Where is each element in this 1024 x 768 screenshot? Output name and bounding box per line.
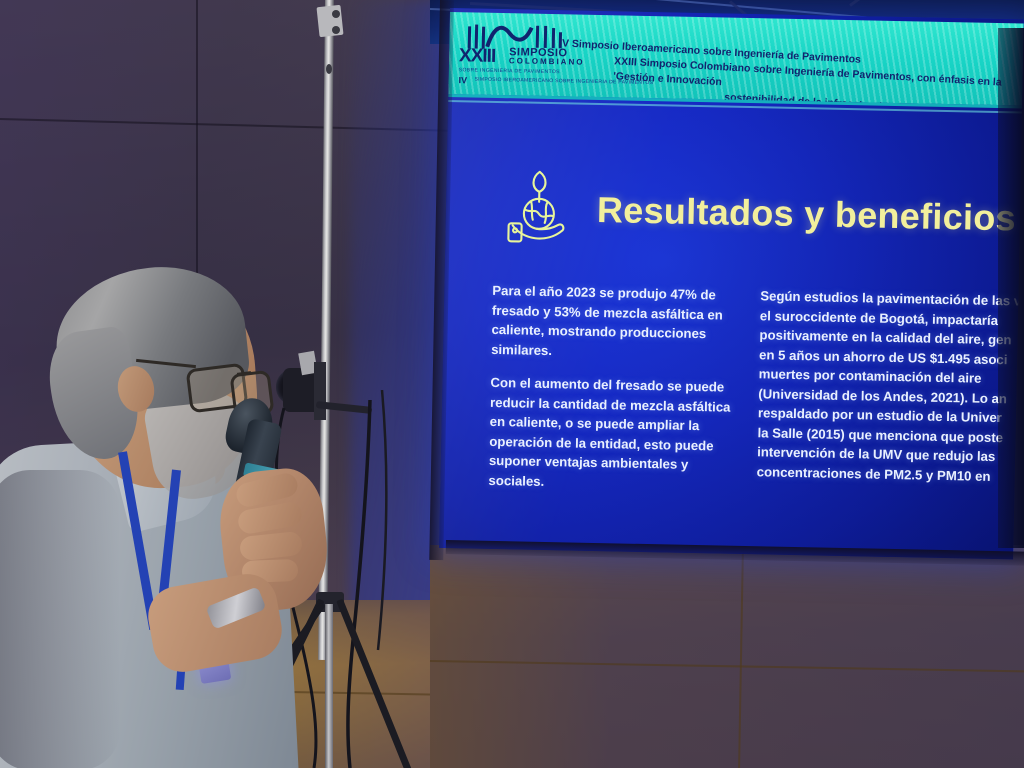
- slide-body-columns: Para el año 2023 se produjo 47% de fresa…: [488, 281, 1012, 514]
- slide-title-row: Resultados y beneficios: [500, 167, 1017, 259]
- screen-right-edge: [998, 28, 1024, 548]
- symposium-logo: XXIII SIMPOSIO COLOMBIANO SOBRE INGENIER…: [456, 18, 567, 92]
- slide-column-right: Según estudios la pavimentación de las v…: [756, 286, 1012, 514]
- slide-header-band: XXIII SIMPOSIO COLOMBIANO SOBRE INGENIER…: [448, 12, 1024, 106]
- projection-screen: XXIII SIMPOSIO COLOMBIANO SOBRE INGENIER…: [439, 8, 1024, 559]
- left-paragraph-2: Con el aumento del fresado se puede redu…: [488, 373, 736, 495]
- conference-presentation-scene: XXIII SIMPOSIO COLOMBIANO SOBRE INGENIER…: [0, 0, 1024, 768]
- slide-title: Resultados y beneficios: [597, 189, 1017, 239]
- logo-subtitle: SOBRE INGENIERIA DE PAVIMENTOS: [459, 68, 560, 75]
- truss-beam-diagonal-2: [849, 0, 948, 7]
- slide-header-text: IV Simposio Iberoamericano sobre Ingenie…: [556, 36, 1024, 105]
- shirt-shadow: [0, 470, 120, 768]
- left-paragraph-1: Para el año 2023 se produjo 47% de fresa…: [491, 281, 739, 364]
- wood-panel-lower-right: [430, 545, 1024, 768]
- logo-edition-number: XXIII: [459, 46, 496, 66]
- hand-holding-globe-leaf-icon: [500, 167, 576, 250]
- presenter: [0, 0, 460, 768]
- slide-column-left: Para el año 2023 se produjo 47% de fresa…: [488, 281, 738, 509]
